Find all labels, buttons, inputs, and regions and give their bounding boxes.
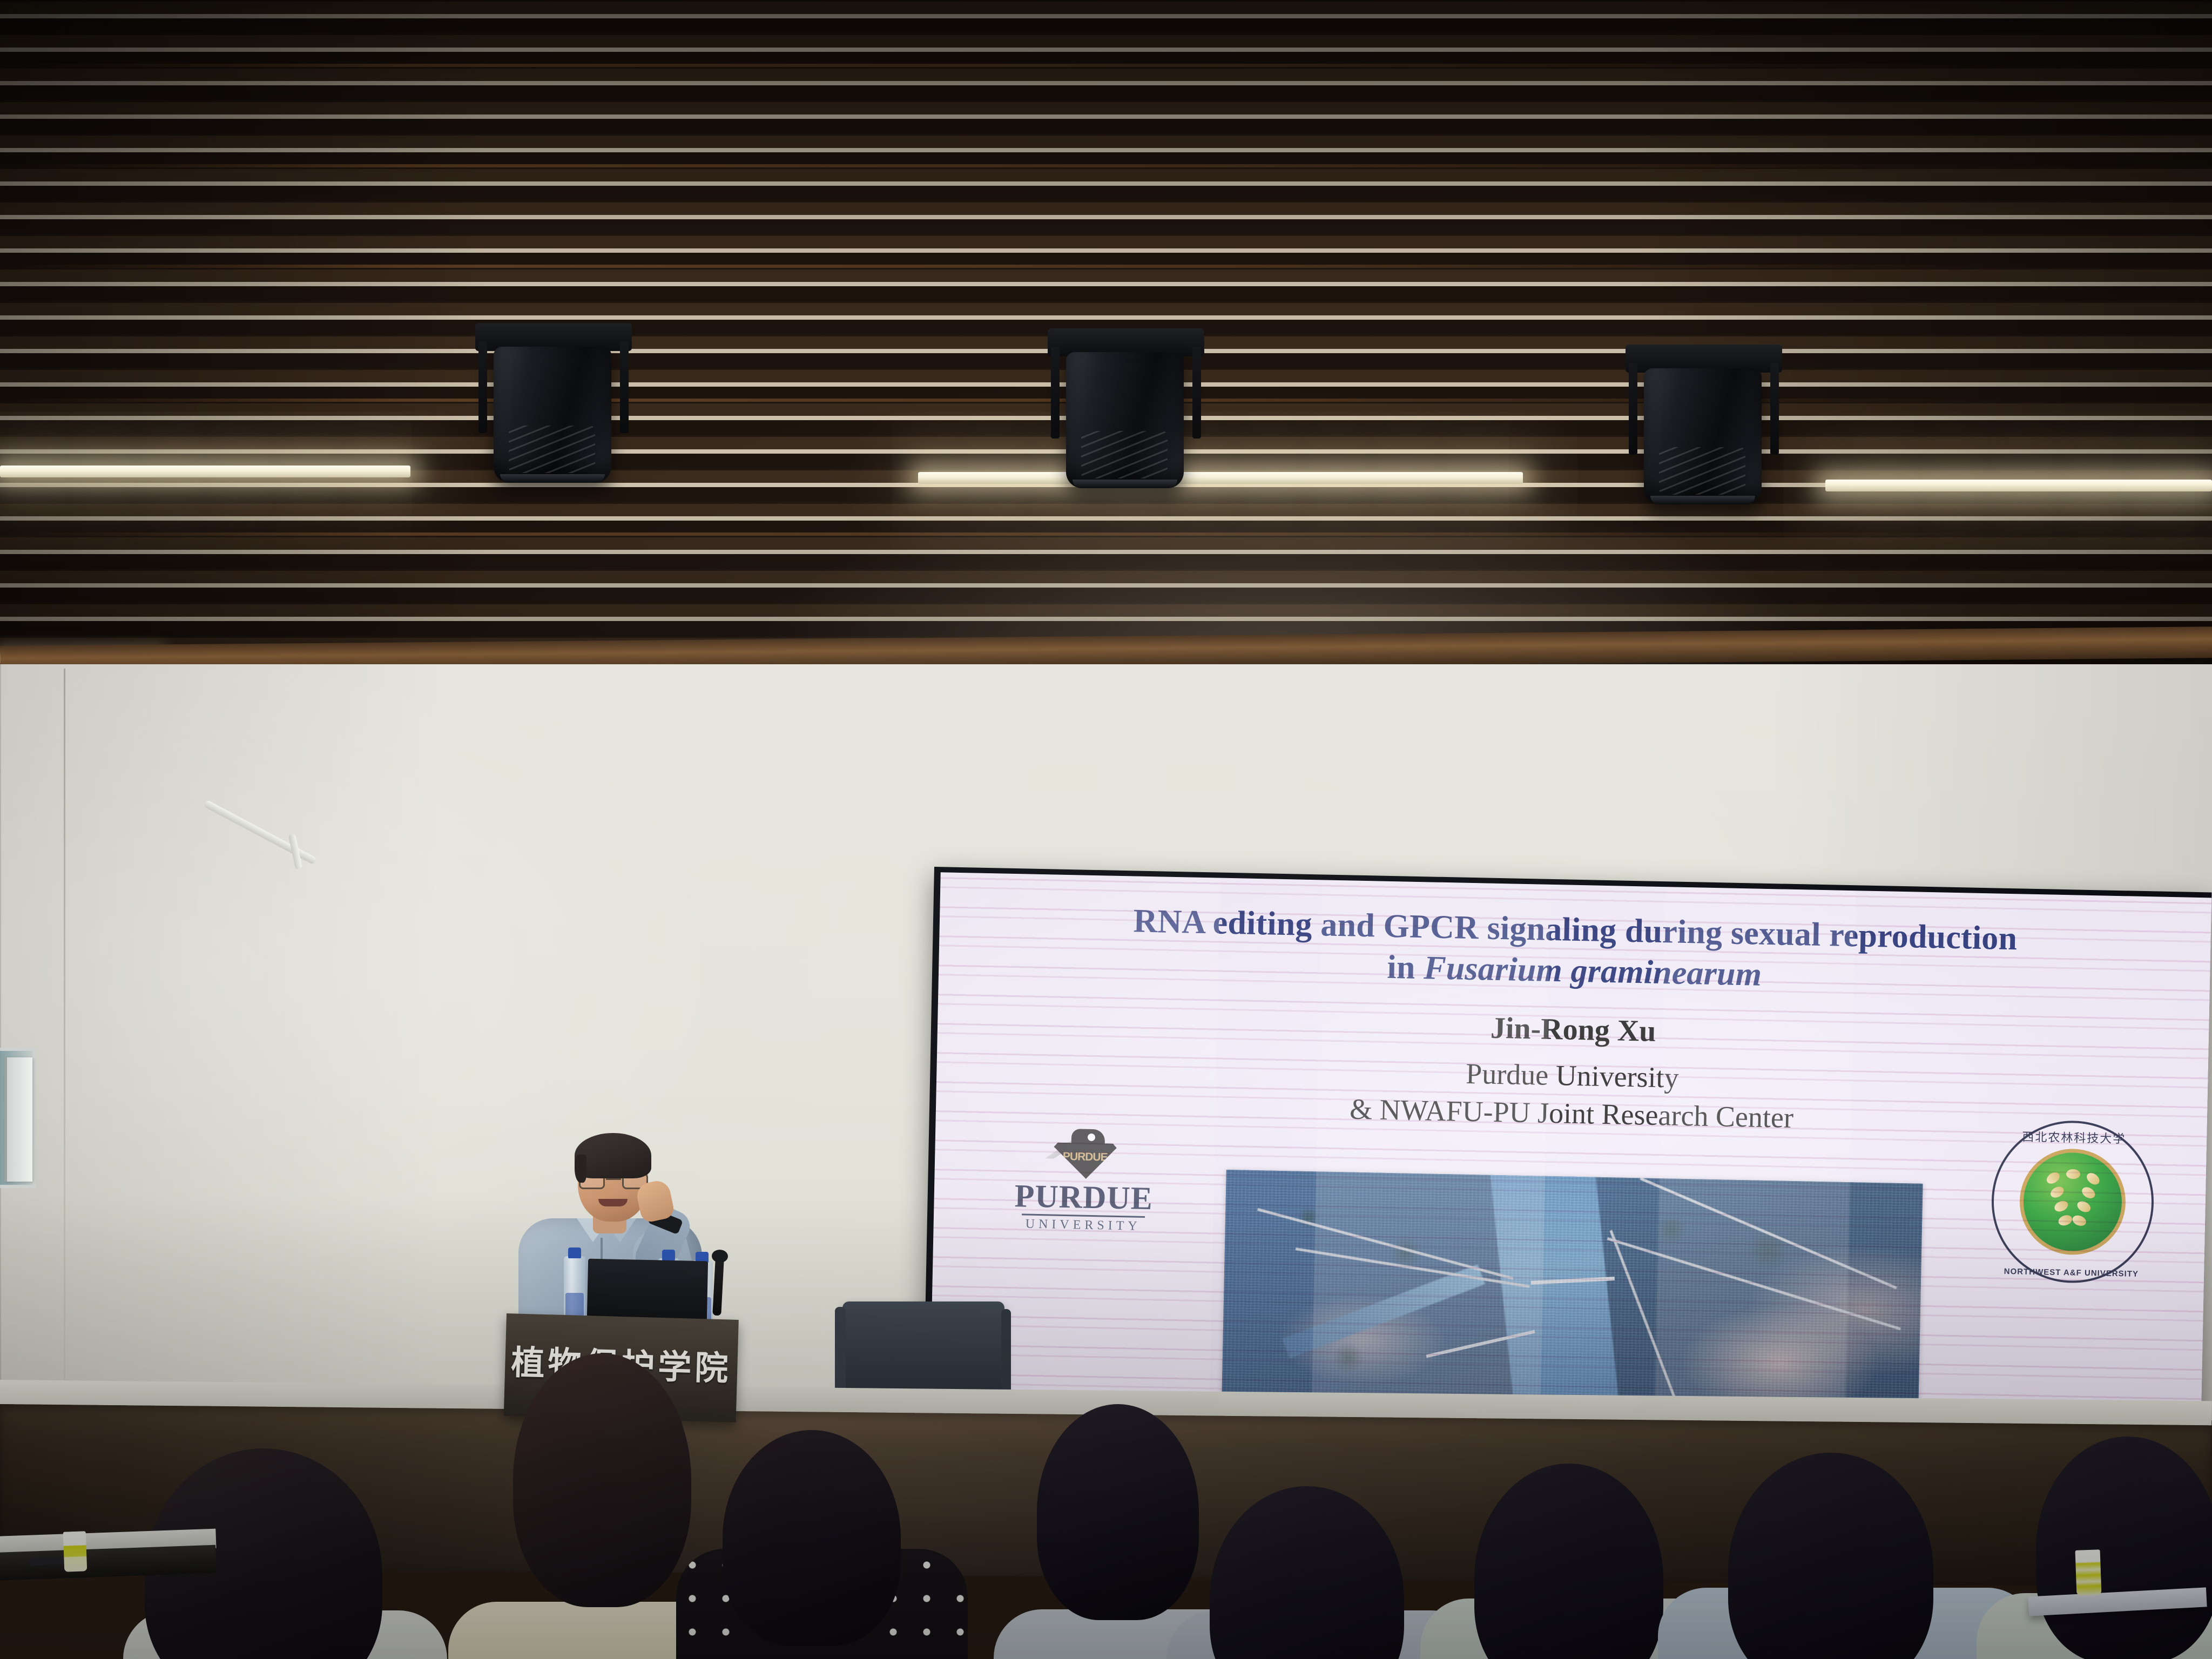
purdue-university-logo: PURDUE UNIVERSITY [977, 1127, 1191, 1258]
stage-spotlight [1048, 328, 1204, 490]
lecture-hall-scene: RNA editing and GPCR signaling during se… [0, 0, 2212, 1659]
water-bottle [564, 1256, 585, 1322]
audience-head [1474, 1464, 1663, 1659]
stage-spotlight [1626, 345, 1782, 507]
slide-title: RNA editing and GPCR signaling during se… [939, 897, 2211, 1004]
purdue-subtitle: UNIVERSITY [1025, 1217, 1141, 1234]
purdue-wordmark: PURDUE [1014, 1181, 1153, 1214]
audience-head [1210, 1486, 1404, 1659]
slide-title-species: Fusarium graminearum [1424, 949, 1762, 993]
audience-head [1728, 1453, 1933, 1659]
audience-head [2036, 1437, 2212, 1659]
audience-member [1696, 1453, 1977, 1659]
wheat-icon [2040, 1168, 2106, 1239]
stage-spotlight [475, 323, 632, 485]
affiliation-line2: & NWAFU-PU Joint Research Center [1350, 1093, 1794, 1134]
ceiling-light-tube [1825, 480, 2212, 491]
speaker-hair [575, 1133, 651, 1178]
audience-head [1037, 1404, 1199, 1620]
audience-member [1998, 1437, 2212, 1659]
affiliation-line1: Purdue University [1466, 1057, 1680, 1094]
audience-head [513, 1353, 691, 1607]
laptop-computer [587, 1259, 708, 1320]
audience-member [709, 1430, 935, 1659]
aerial-campus-photo [1222, 1170, 1923, 1416]
slide-title-line2-prefix: in [1387, 948, 1424, 986]
slide-title-line1: RNA editing and GPCR signaling during se… [1133, 902, 2018, 957]
seal-chinese-name: 西北农林科技大学 [1993, 1127, 2155, 1147]
drink-cup [63, 1531, 87, 1572]
wall-corner-line [64, 669, 65, 1387]
drink-cup [2075, 1549, 2102, 1596]
ceiling-light-tube [918, 472, 1523, 484]
projection-screen-frame: RNA editing and GPCR signaling during se… [923, 867, 2212, 1435]
audience-member [1193, 1486, 1442, 1659]
seal-english-name: NORTHWEST A&F UNIVERSITY [1990, 1266, 2152, 1279]
presentation-slide: RNA editing and GPCR signaling during se… [930, 872, 2211, 1428]
speaker-mouth [598, 1199, 628, 1206]
audience-head [723, 1430, 901, 1646]
ceiling-light-tube [0, 466, 410, 477]
purdue-locomotive-icon [1043, 1128, 1125, 1182]
wall-panel [4, 1057, 32, 1182]
northwest-af-university-logo: 西北农林科技大学 NORTHWEST A&F UNIVERSITY [1990, 1119, 2155, 1284]
